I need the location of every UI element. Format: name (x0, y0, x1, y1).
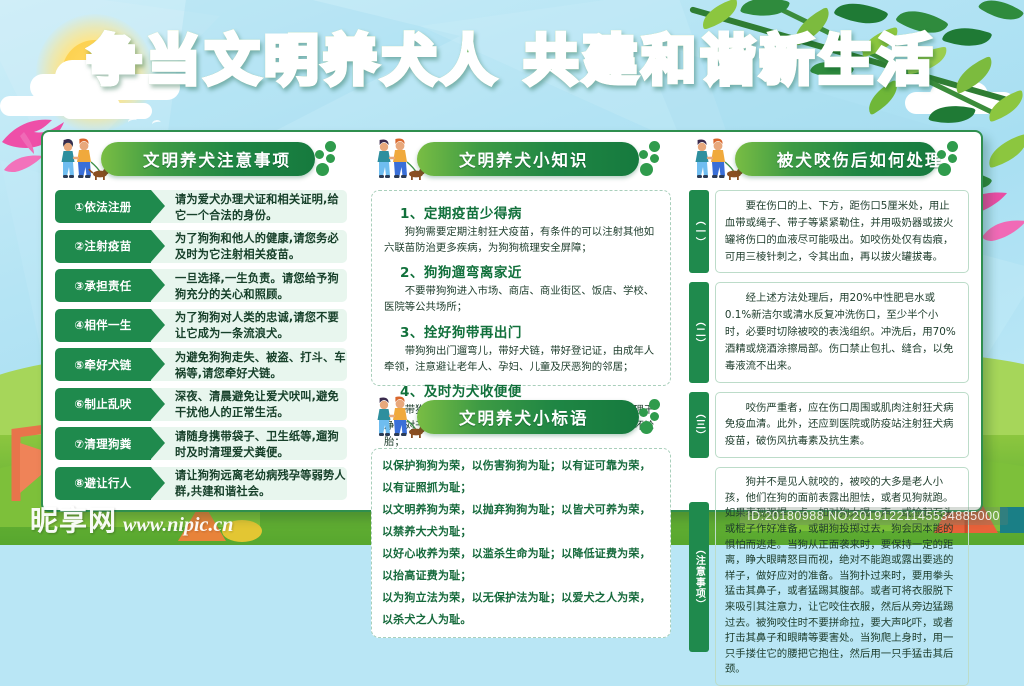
notice-tag: ⑦清理狗粪 (55, 427, 151, 460)
notice-tag: ①依法注册 (55, 190, 151, 223)
paw-dot (947, 141, 958, 152)
knowledge-title: 2、狗狗遛弯离家近 (400, 261, 658, 281)
notice-text: 为了狗狗和他人的健康,请您务必及时为它注射相关疫苗。 (151, 230, 347, 262)
image-id-tag: ID:20180988 NO:20191221145534885000 (739, 507, 1008, 525)
notices-heading-text: 文明养犬注意事项 (101, 147, 291, 171)
notice-text: 请随身携带袋子、卫生纸等,遛狗时及时清理爱犬粪便。 (151, 428, 347, 460)
notice-tag: ④相伴一生 (55, 309, 151, 342)
knowledge-body: 不要带狗狗进入市场、商店、商业街区、饭店、学校、医院等公共场所； (384, 283, 658, 315)
paw-dot (649, 399, 660, 410)
column-notices: 文明养犬注意事项 ①依法注册 请为爱犬办理犬证和相关证明,给它一个合法的身份。 … (43, 132, 357, 510)
slogan-line: 以好心收养为荣，以滥杀生命为耻；以降低证费为荣，以抬高证费为耻； (382, 543, 660, 587)
pink-bird-icon (980, 215, 1024, 249)
section-header-knowledge: 文明养犬小知识 (371, 140, 671, 182)
knowledge-body: 狗狗需要定期注射狂犬疫苗，有条件的可以注射其他如六联苗防治更多疾病，为狗狗梳理安… (384, 224, 658, 256)
slogan-line: 以文明养狗为荣，以抛弃狗狗为耻；以皆犬可养为荣，以禁养大犬为耻； (382, 499, 660, 543)
paw-dot (938, 163, 951, 176)
bite-heading-pill: 被犬咬伤后如何处理 (735, 142, 937, 176)
notice-row: ⑧避让行人 请让狗狗远离老幼病残孕等弱势人群,共建和谐社会。 (55, 467, 347, 500)
notice-row: ②注射疫苗 为了狗狗和他人的健康,请您务必及时为它注射相关疫苗。 (55, 230, 347, 263)
column-knowledge: 文明养犬小知识 1、定期疫苗少得病 狗狗需要定期注射狂犬疫苗，有条件的可以注射其… (367, 132, 675, 510)
notice-row: ⑦清理狗粪 请随身携带袋子、卫生纸等,遛狗时及时清理爱犬粪便。 (55, 427, 347, 460)
watermark-url: www.nipic.cn (123, 514, 233, 539)
bite-block-label: （三） (689, 392, 709, 459)
paw-dots-decoration (935, 140, 965, 180)
notice-tag: ⑤牵好犬链 (55, 348, 151, 381)
paw-dot (948, 154, 957, 163)
bite-block: （一） 要在伤口的上、下方，距伤口5厘米处，用止血带或绳子、带子等紧紧勒住，并用… (689, 190, 969, 273)
bite-block-label: （二） (689, 282, 709, 382)
paw-dot (315, 150, 324, 159)
poster-board: 文明养犬注意事项 ①依法注册 请为爱犬办理犬证和相关证明,给它一个合法的身份。 … (41, 130, 983, 512)
notice-row: ③承担责任 一旦选择,一生负责。请您给予狗狗充分的关心和照顾。 (55, 269, 347, 302)
bite-note-text: 狗并不是见人就咬的，被咬的大多是老人小孩，他们在狗的面前表露出胆怯，或者见狗就跑… (715, 467, 969, 686)
notice-tag: ⑧避让行人 (55, 467, 151, 500)
paw-dot (649, 141, 660, 152)
column-bite-treatment: 被犬咬伤后如何处理 （一） 要在伤口的上、下方，距伤口5厘米处，用止血带或绳子、… (685, 132, 981, 510)
knowledge-heading-text: 文明养犬小知识 (417, 147, 589, 171)
paw-dots-decoration (637, 140, 667, 180)
knowledge-title: 1、定期疫苗少得病 (400, 202, 658, 222)
notice-text: 请为爱犬办理犬证和相关证明,给它一个合法的身份。 (151, 191, 347, 223)
notice-text: 深夜、清晨避免让爱犬吠叫,避免干扰他人的正常生活。 (151, 388, 347, 420)
knowledge-box: 1、定期疫苗少得病 狗狗需要定期注射狂犬疫苗，有条件的可以注射其他如六联苗防治更… (371, 190, 671, 386)
paw-dot (316, 163, 329, 176)
bite-heading-text: 被犬咬伤后如何处理 (735, 147, 944, 171)
notice-text: 为避免狗狗走失、被盗、打斗、车祸等,请您牵好犬链。 (151, 349, 347, 381)
knowledge-title: 4、及时为犬收便便 (400, 380, 658, 400)
page-title-text: 争当文明养犬人 共建和谐新生活 (87, 29, 937, 92)
slogan-line: 以保护狗狗为荣，以伤害狗狗为耻；以有证可靠为荣，以有证照抓为耻； (382, 455, 660, 499)
notice-row: ①依法注册 请为爱犬办理犬证和相关证明,给它一个合法的身份。 (55, 190, 347, 223)
paw-dot (650, 412, 659, 421)
cloud-icon (62, 103, 152, 119)
bite-block-label: （一） (689, 190, 709, 273)
slogan-box: 以保护狗狗为荣，以伤害狗狗为耻；以有证可靠为荣，以有证照抓为耻； 以文明养狗为荣… (371, 448, 671, 638)
paw-dots-decoration (313, 140, 343, 180)
bite-block-note: （注意事项） 狗并不是见人就咬的，被咬的大多是老人小孩，他们在狗的面前表露出胆怯… (689, 467, 969, 686)
paw-dots-decoration (637, 398, 667, 438)
section-header-bite: 被犬咬伤后如何处理 (689, 140, 969, 182)
bite-note-label: （注意事项） (689, 502, 709, 652)
slogan-line: 以为狗立法为荣，以无保护法为耻；以爱犬之人为荣，以杀犬之人为耻。 (382, 587, 660, 631)
paw-dot (325, 141, 336, 152)
slogan-heading-pill: 文明养犬小标语 (417, 400, 639, 434)
knowledge-body: 带狗狗出门遛弯儿，带好犬链，带好登记证，由成年人牵领，注意避让老年人、孕妇、儿童… (384, 343, 658, 375)
notices-heading-pill: 文明养犬注意事项 (101, 142, 315, 176)
page-title: 争当文明养犬人 共建和谐新生活 (0, 34, 1024, 88)
slogan-heading-text: 文明养犬小标语 (417, 405, 589, 429)
watermark-brand: 昵享网 (30, 499, 117, 539)
notice-row: ⑤牵好犬链 为避免狗狗走失、被盗、打斗、车祸等,请您牵好犬链。 (55, 348, 347, 381)
notice-tag: ③承担责任 (55, 269, 151, 302)
paw-dot (326, 154, 335, 163)
paw-dot (640, 163, 653, 176)
notice-row: ⑥制止乱吠 深夜、清晨避免让爱犬吠叫,避免干扰他人的正常生活。 (55, 388, 347, 421)
paw-dot (640, 421, 653, 434)
section-header-slogan: 文明养犬小标语 (371, 398, 671, 440)
paw-dot (650, 154, 659, 163)
paw-dot (639, 408, 648, 417)
paw-dot (937, 150, 946, 159)
bite-block-text: 要在伤口的上、下方，距伤口5厘米处，用止血带或绳子、带子等紧紧勒住，并用吸奶器或… (715, 190, 969, 273)
notice-tag: ⑥制止乱吠 (55, 388, 151, 421)
bite-block-text: 咬伤严重者，应在伤口周围或肌肉注射狂犬病免疫血清。此外，还应到医院或防疫站注射狂… (715, 392, 969, 459)
notice-tag: ②注射疫苗 (55, 230, 151, 263)
knowledge-heading-pill: 文明养犬小知识 (417, 142, 639, 176)
section-header-notices: 文明养犬注意事项 (55, 140, 347, 182)
knowledge-title: 3、拴好狗带再出门 (400, 321, 658, 341)
notice-row: ④相伴一生 为了狗狗对人类的忠诚,请您不要让它成为一条流浪犬。 (55, 309, 347, 342)
bite-block: （三） 咬伤严重者，应在伤口周围或肌肉注射狂犬病免疫血清。此外，还应到医院或防疫… (689, 392, 969, 459)
paw-dot (639, 150, 648, 159)
bite-block-text: 经上述方法处理后，用20%中性肥皂水或0.1%新洁尔或清水反复冲洗伤口，至少半个… (715, 282, 969, 382)
notice-text: 一旦选择,一生负责。请您给予狗狗充分的关心和照顾。 (151, 270, 347, 302)
watermark: 昵享网 www.nipic.cn (30, 499, 233, 539)
notice-text: 为了狗狗对人类的忠诚,请您不要让它成为一条流浪犬。 (151, 309, 347, 341)
notice-text: 请让狗狗远离老幼病残孕等弱势人群,共建和谐社会。 (151, 467, 347, 499)
bite-block: （二） 经上述方法处理后，用20%中性肥皂水或0.1%新洁尔或清水反复冲洗伤口，… (689, 282, 969, 382)
